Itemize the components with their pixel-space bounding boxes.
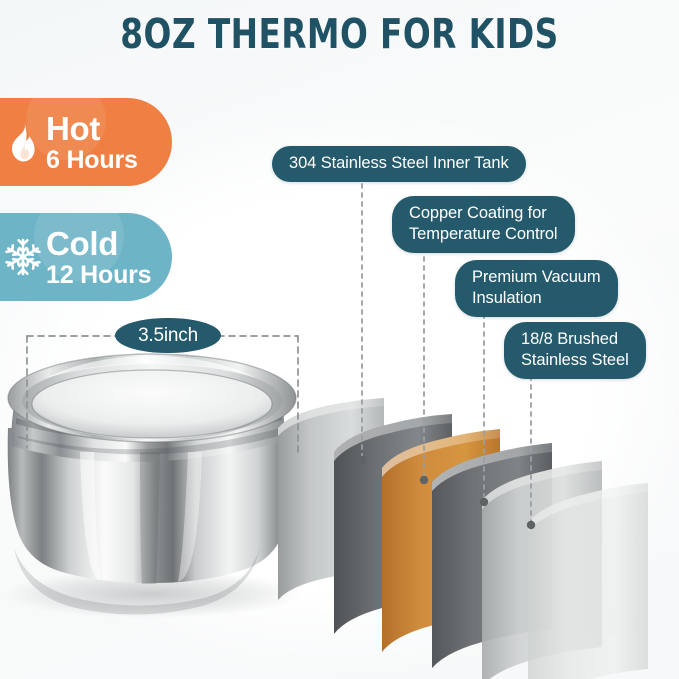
layer-copper-coating — [382, 429, 500, 652]
callout-brushed-steel-line1: 18/8 Brushed — [521, 329, 629, 350]
callout-copper-coating: Copper Coating for Temperature Control — [392, 196, 575, 253]
canister-highlight-right — [178, 452, 202, 582]
canister-neck-band — [11, 402, 284, 462]
canister-thread-groove-2 — [18, 428, 280, 455]
callout-copper-coating-line1: Copper Coating for — [409, 203, 558, 224]
page-title: 8OZ THERMO FOR KIDS — [68, 8, 611, 60]
layer-brushed-stainless — [482, 461, 602, 679]
dimension-label: 3.5inch — [138, 325, 198, 347]
callout-brushed-steel: 18/8 Brushed Stainless Steel — [504, 322, 646, 379]
canister-body-bottom-shade — [14, 548, 260, 615]
layer-vacuum-insulation — [432, 443, 552, 668]
badge-cold: Cold 12 Hours — [0, 213, 172, 301]
canister-outer-rim-edge — [8, 354, 296, 442]
callout-brushed-steel-line2: Stainless Steel — [521, 350, 629, 371]
layer-inner-tank-steel — [334, 414, 452, 634]
leader-dot-vacuum — [480, 498, 488, 506]
canister-outer-rim — [8, 354, 296, 442]
callout-vacuum-insulation-line1: Premium Vacuum — [472, 267, 601, 288]
callout-copper-coating-line2: Temperature Control — [409, 224, 558, 245]
canister-mouth-edge — [32, 370, 272, 438]
leader-dot-copper-coating — [420, 476, 428, 484]
layer-protective-finish — [528, 483, 648, 679]
canister-shade-center — [140, 452, 160, 584]
callout-vacuum-insulation: Premium Vacuum Insulation — [455, 260, 618, 317]
canister-highlight-left — [80, 452, 100, 580]
layer-outer-brushed-steel — [278, 398, 384, 600]
canister-thread-groove-1 — [16, 412, 282, 440]
product-infographic: 8OZ THERMO FOR KIDS Hot 6 Hours — [0, 0, 679, 679]
dimension-badge-width: 3.5inch — [115, 318, 221, 353]
badge-hot: Hot 6 Hours — [0, 98, 172, 186]
canister-mouth-opening — [32, 370, 272, 438]
callout-inner-tank: 304 Stainless Steel Inner Tank — [272, 146, 526, 182]
leader-dot-inner-tank — [358, 456, 366, 464]
leader-dot-brushed-steel — [527, 521, 535, 529]
canister-rim-lip — [22, 363, 282, 439]
canister-rim-highlight — [46, 356, 256, 378]
canister-mouth-inner-shadow — [34, 410, 270, 440]
callout-inner-tank-text: 304 Stainless Steel Inner Tank — [289, 154, 509, 172]
canister-body — [8, 428, 293, 583]
callout-vacuum-insulation-line2: Insulation — [472, 288, 601, 309]
product-shadow — [2, 570, 302, 618]
